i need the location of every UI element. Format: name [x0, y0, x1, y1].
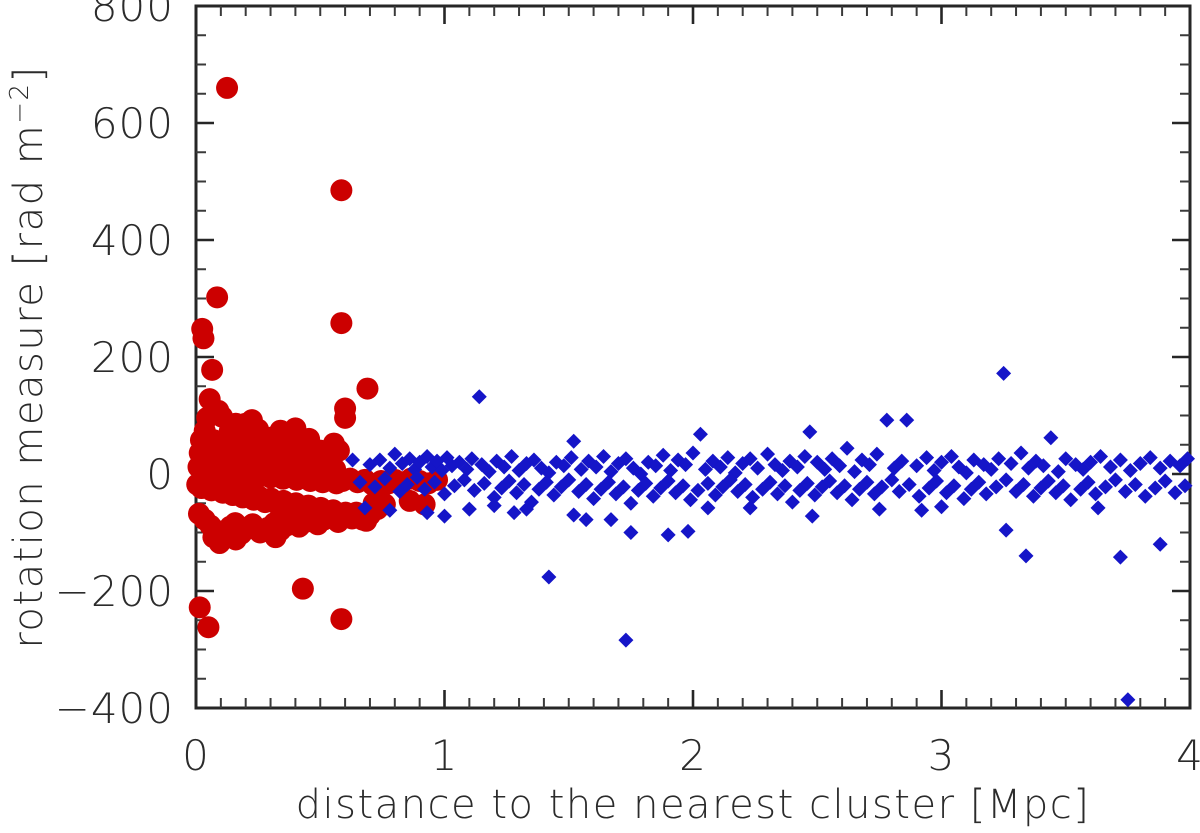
data-point-diamond [579, 512, 594, 527]
data-point-diamond [1091, 500, 1106, 515]
data-point-diamond [785, 495, 800, 510]
data-point-diamond [566, 507, 581, 522]
data-point-diamond [1014, 445, 1029, 460]
data-point-diamond [1063, 492, 1078, 507]
data-point-circle [265, 526, 287, 548]
data-point-circle [330, 312, 352, 334]
data-series-field [345, 366, 1195, 707]
data-point-circle [356, 378, 378, 400]
data-point-diamond [686, 445, 701, 460]
data-point-diamond [996, 366, 1011, 381]
data-point-diamond [541, 569, 556, 584]
data-point-diamond [909, 458, 924, 473]
y-ticklabel: 200 [91, 333, 174, 382]
y-ticklabel: 0 [146, 450, 174, 499]
data-point-diamond [919, 450, 934, 465]
data-point-diamond [934, 499, 949, 514]
data-point-diamond [847, 464, 862, 479]
data-point-diamond [693, 427, 708, 442]
data-point-diamond [802, 424, 817, 439]
data-point-circle [330, 179, 352, 201]
data-point-diamond [700, 500, 715, 515]
data-point-diamond [999, 523, 1014, 538]
data-point-diamond [472, 389, 487, 404]
data-point-diamond [462, 502, 477, 517]
data-point-diamond [899, 413, 914, 428]
data-point-diamond [912, 489, 927, 504]
data-point-diamond [623, 525, 638, 540]
data-point-diamond [661, 527, 676, 542]
data-point-circle [206, 286, 228, 308]
y-ticklabel: 600 [91, 99, 174, 148]
data-point-circle [334, 407, 356, 429]
data-point-diamond [1113, 550, 1128, 565]
data-point-diamond [745, 490, 760, 505]
y-axis-title: rotation measure [rad m−2] [5, 65, 52, 648]
data-series-cluster [186, 77, 448, 638]
data-point-diamond [1004, 456, 1019, 471]
y-ticklabel: −400 [55, 684, 174, 733]
data-point-diamond [681, 524, 696, 539]
data-point-diamond [1138, 489, 1153, 504]
data-point-diamond [840, 441, 855, 456]
data-point-diamond [872, 502, 887, 517]
data-point-circle [197, 616, 219, 638]
data-point-circle [216, 77, 238, 99]
x-ticklabel: 1 [431, 731, 459, 780]
data-point-diamond [914, 503, 929, 518]
data-point-circle [214, 525, 236, 547]
y-ticklabel: 800 [91, 0, 174, 31]
data-point-circle [192, 327, 214, 349]
data-point-diamond [879, 413, 894, 428]
x-ticklabel: 4 [1176, 731, 1200, 780]
data-point-circle [274, 504, 296, 526]
data-point-diamond [618, 633, 633, 648]
data-point-diamond [437, 509, 452, 524]
x-ticklabel: 3 [928, 731, 956, 780]
data-point-diamond [487, 498, 502, 513]
data-point-circle [292, 578, 314, 600]
plot-frame [196, 6, 1190, 708]
data-point-diamond [1051, 464, 1066, 479]
x-ticklabel: 2 [679, 731, 707, 780]
data-point-diamond [566, 434, 581, 449]
x-ticklabel: 0 [182, 731, 210, 780]
y-ticklabel: 400 [91, 216, 174, 265]
rotation-measure-scatter-chart: 012348006004002000−200−400distance to th… [0, 0, 1200, 833]
y-ticklabel: −200 [55, 567, 174, 616]
data-point-diamond [805, 509, 820, 524]
data-point-circle [330, 608, 352, 630]
data-point-diamond [1120, 692, 1135, 707]
data-point-diamond [604, 512, 619, 527]
data-point-circle [189, 596, 211, 618]
data-point-circle [201, 359, 223, 381]
scatter-plot-figure: 012348006004002000−200−400distance to th… [0, 0, 1200, 833]
data-point-diamond [507, 505, 522, 520]
data-point-diamond [1043, 430, 1058, 445]
x-axis-title: distance to the nearest cluster [Mpc] [296, 782, 1091, 828]
data-point-diamond [623, 496, 638, 511]
data-point-diamond [743, 500, 758, 515]
data-point-diamond [1018, 548, 1033, 563]
data-point-diamond [1153, 537, 1168, 552]
